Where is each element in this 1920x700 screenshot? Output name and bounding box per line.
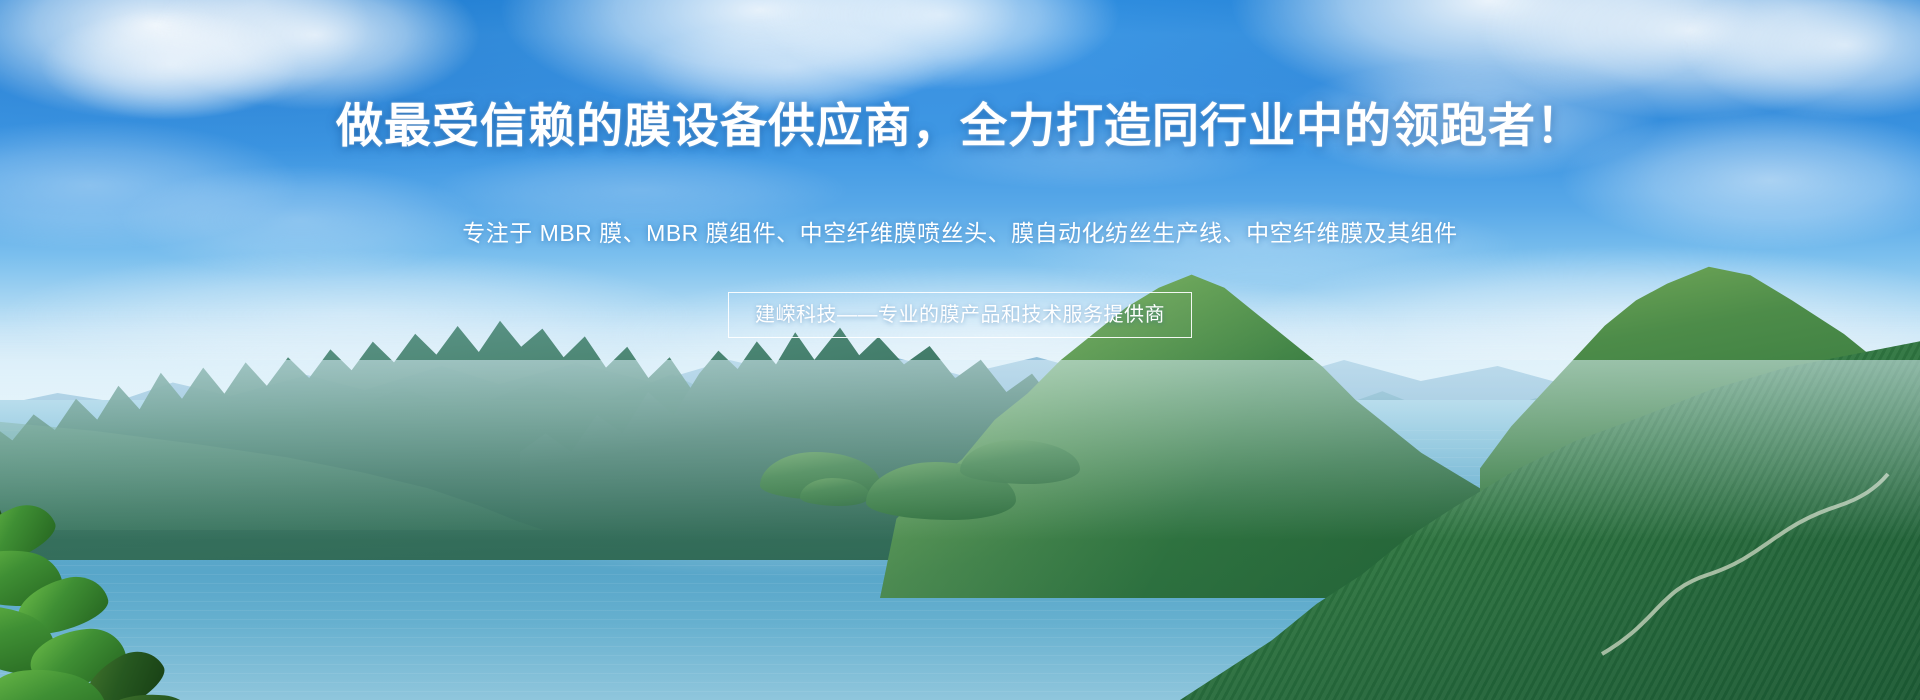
banner-tagline-container: 建嵘科技——专业的膜产品和技术服务提供商: [0, 292, 1920, 338]
banner-tagline: 建嵘科技——专业的膜产品和技术服务提供商: [728, 292, 1192, 338]
banner-headline: 做最受信赖的膜设备供应商，全力打造同行业中的领跑者！: [0, 100, 1920, 152]
foreground-foliage: [0, 480, 260, 700]
banner-subheadline: 专注于 MBR 膜、MBR 膜组件、中空纤维膜喷丝头、膜自动化纺丝生产线、中空纤…: [0, 218, 1920, 248]
hero-banner: 做最受信赖的膜设备供应商，全力打造同行业中的领跑者！ 专注于 MBR 膜、MBR…: [0, 0, 1920, 700]
